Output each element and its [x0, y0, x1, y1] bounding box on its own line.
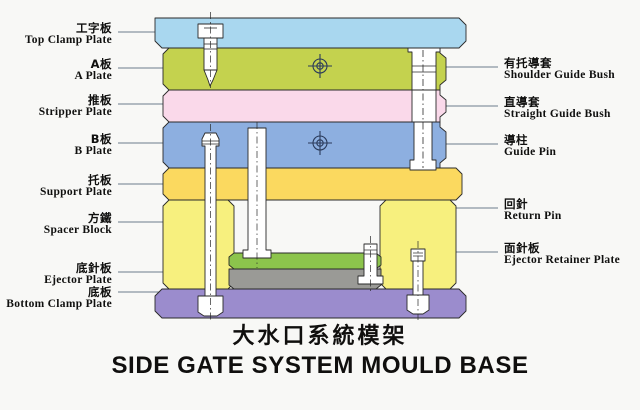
label-support-plate-cn: 托板	[0, 174, 112, 186]
plate-stripper	[163, 90, 446, 122]
diagram-title-en: SIDE GATE SYSTEM MOULD BASE	[0, 352, 640, 380]
label-a-plate-en: A Plate	[0, 70, 112, 82]
label-straight-guide-bush-cn: 直導套	[504, 96, 640, 108]
diagram-title-cn: 大水口系統模架	[0, 318, 640, 350]
label-bottom-clamp-plate: 底板 Bottom Clamp Plate	[0, 286, 112, 311]
shoulder-guide-bush	[408, 48, 440, 90]
label-straight-guide-bush-en: Straight Guide Bush	[504, 108, 640, 120]
label-shoulder-guide-bush: 有托導套 Shoulder Guide Bush	[504, 57, 640, 82]
label-ejector-retainer-plate-cn: 面針板	[504, 242, 640, 254]
label-b-plate-cn: B板	[0, 133, 112, 145]
label-guide-pin-cn: 導柱	[504, 134, 640, 146]
label-guide-pin-en: Guide Pin	[504, 146, 640, 158]
label-return-pin: 回針 Return Pin	[504, 198, 640, 223]
label-ejector-plate: 底針板 Ejector Plate	[0, 262, 112, 287]
label-top-clamp-plate-en: Top Clamp Plate	[0, 34, 112, 46]
label-bottom-clamp-plate-en: Bottom Clamp Plate	[0, 298, 112, 310]
label-ejector-plate-cn: 底針板	[0, 262, 112, 274]
label-support-plate-en: Support Plate	[0, 186, 112, 198]
label-return-pin-en: Return Pin	[504, 210, 640, 222]
label-shoulder-guide-bush-en: Shoulder Guide Bush	[504, 69, 640, 81]
straight-guide-bush	[412, 90, 436, 122]
label-a-plate-cn: A板	[0, 58, 112, 70]
label-top-clamp-plate-cn: 工字板	[0, 22, 112, 34]
label-spacer-block-en: Spacer Block	[0, 224, 112, 236]
diagram-title: 大水口系統模架 SIDE GATE SYSTEM MOULD BASE	[0, 318, 640, 380]
label-return-pin-cn: 回針	[504, 198, 640, 210]
label-a-plate: A板 A Plate	[0, 58, 112, 83]
mould-base-diagram-page: 工字板 Top Clamp Plate A板 A Plate 推板 Stripp…	[0, 0, 640, 410]
label-ejector-retainer-plate: 面針板 Ejector Retainer Plate	[504, 242, 640, 267]
label-b-plate-en: B Plate	[0, 145, 112, 157]
label-straight-guide-bush: 直導套 Straight Guide Bush	[504, 96, 640, 121]
label-ejector-retainer-plate-en: Ejector Retainer Plate	[504, 254, 640, 266]
label-spacer-block-cn: 方鐵	[0, 212, 112, 224]
label-spacer-block: 方鐵 Spacer Block	[0, 212, 112, 237]
label-b-plate: B板 B Plate	[0, 133, 112, 158]
label-shoulder-guide-bush-cn: 有托導套	[504, 57, 640, 69]
label-guide-pin: 導柱 Guide Pin	[504, 134, 640, 159]
label-support-plate: 托板 Support Plate	[0, 174, 112, 199]
label-top-clamp-plate: 工字板 Top Clamp Plate	[0, 22, 112, 47]
label-stripper-plate-cn: 推板	[0, 94, 112, 106]
label-bottom-clamp-plate-cn: 底板	[0, 286, 112, 298]
spacer-block-left	[163, 200, 234, 289]
label-stripper-plate: 推板 Stripper Plate	[0, 94, 112, 119]
label-stripper-plate-en: Stripper Plate	[0, 106, 112, 118]
